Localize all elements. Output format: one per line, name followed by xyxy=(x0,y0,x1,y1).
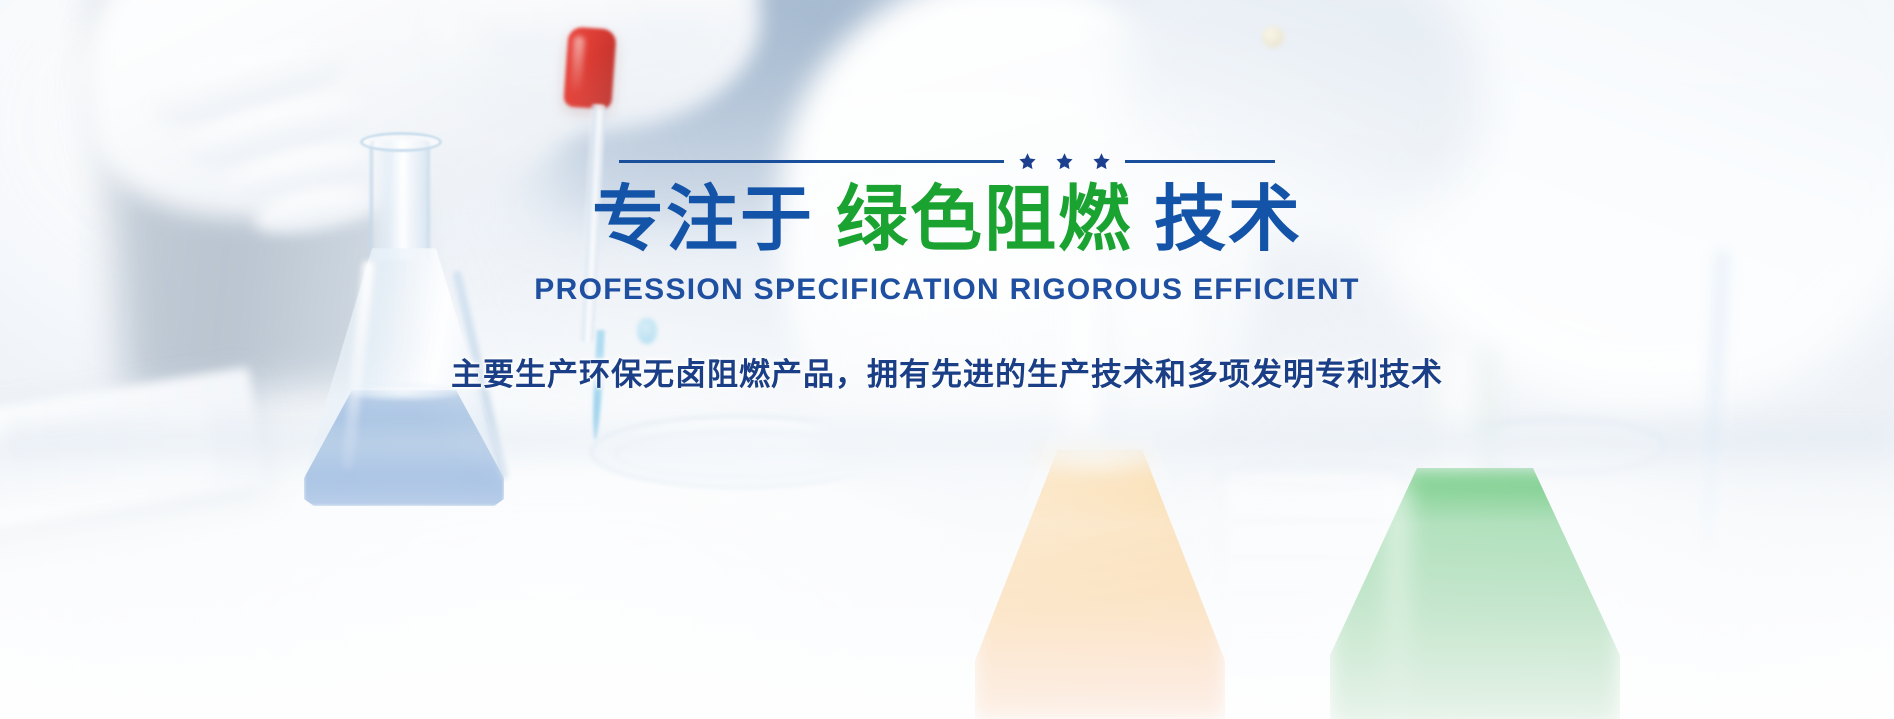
decorative-divider xyxy=(619,152,1275,171)
flask-lip xyxy=(360,132,442,152)
lab-coat-button xyxy=(1262,26,1284,48)
hero-banner: 专注于绿色阻燃技术 PROFESSION SPECIFICATION RIGOR… xyxy=(0,0,1894,719)
english-subtitle: PROFESSION SPECIFICATION RIGOROUS EFFICI… xyxy=(534,273,1359,307)
divider-line-right xyxy=(1125,160,1275,163)
banner-content: 专注于绿色阻燃技术 PROFESSION SPECIFICATION RIGOR… xyxy=(0,152,1894,394)
headline-part-green-flame-retardant: 绿色阻燃 xyxy=(836,177,1132,261)
headline-part-focus: 专注于 xyxy=(592,177,814,261)
star-icon xyxy=(1092,152,1111,171)
tagline-text: 主要生产环保无卤阻燃产品，拥有先进的生产技术和多项发明专利技术 xyxy=(451,349,1443,394)
star-icon xyxy=(1018,152,1037,171)
page-title: 专注于绿色阻燃技术 xyxy=(592,181,1302,257)
bench-surface xyxy=(0,419,1894,719)
star-icon xyxy=(1055,152,1074,171)
headline-part-technology: 技术 xyxy=(1154,177,1302,261)
star-group xyxy=(1018,152,1111,171)
divider-line-left xyxy=(619,160,1004,163)
